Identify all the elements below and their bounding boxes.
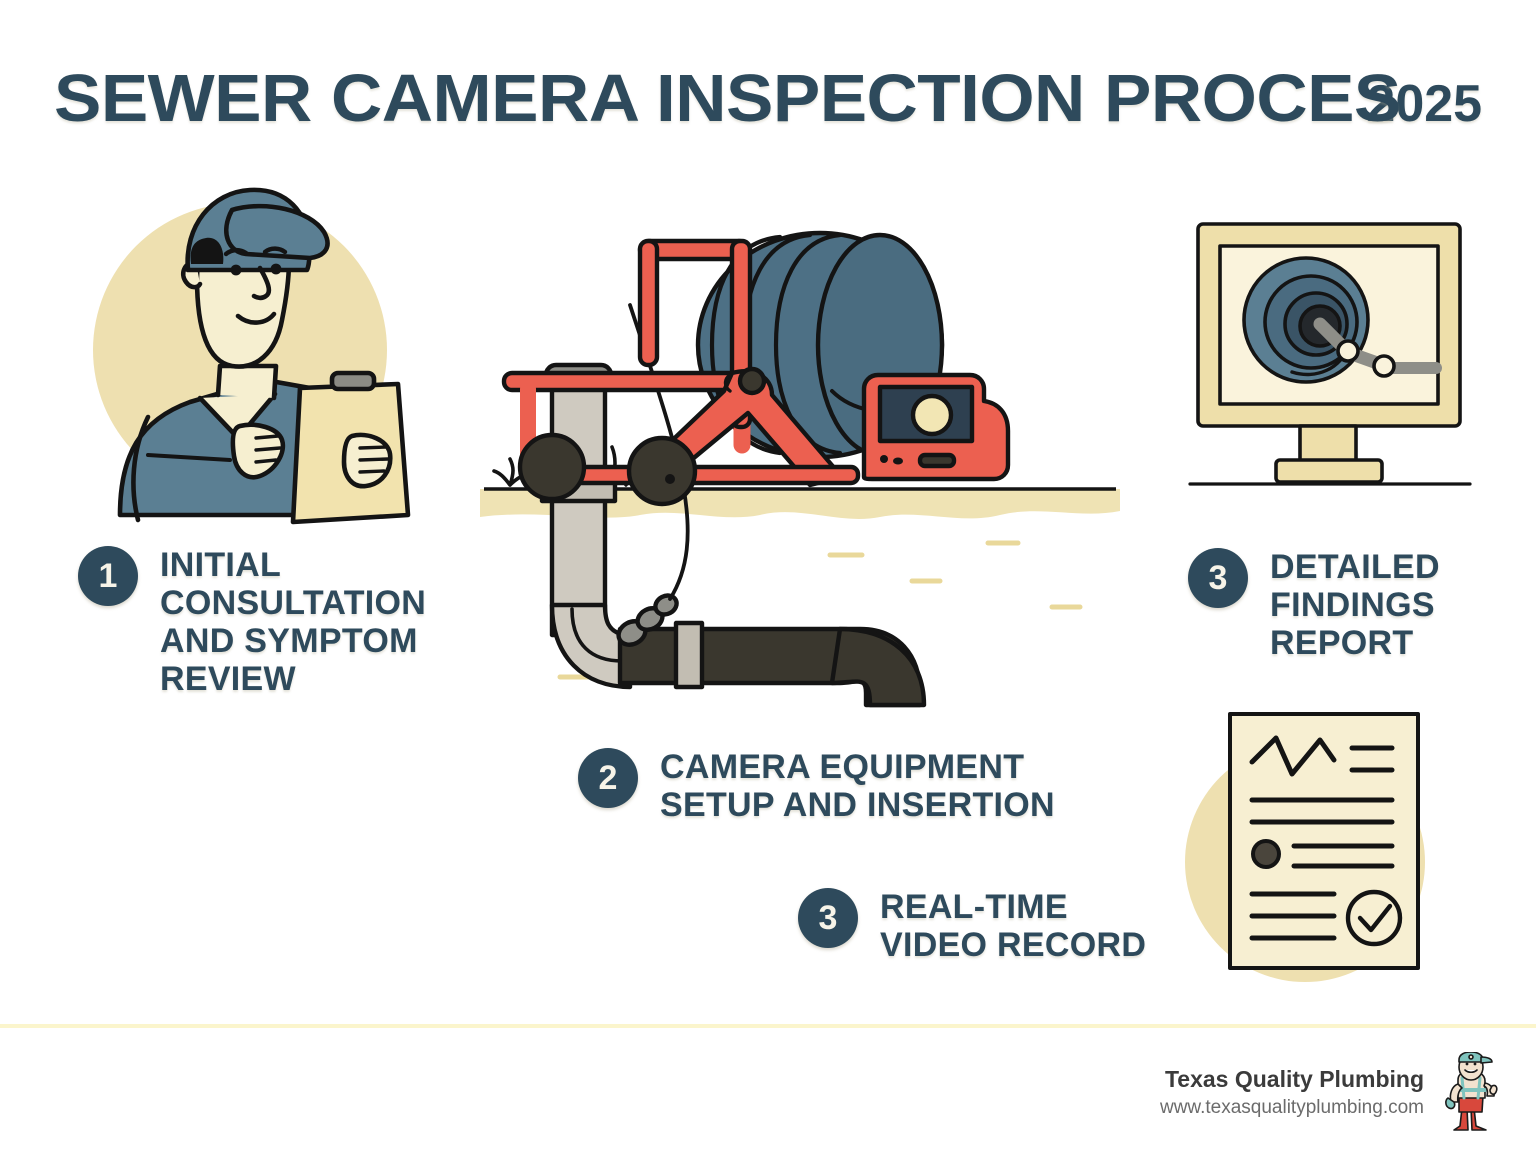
step-4-number-badge: 3 <box>1188 548 1248 608</box>
brand-url[interactable]: www.texasqualityplumbing.com <box>1160 1095 1424 1122</box>
sewer-pipe-collar <box>676 623 702 687</box>
report-bullet-dot <box>1253 841 1279 867</box>
plumber-eye-left <box>231 265 242 276</box>
cart-handle-stem-left <box>640 241 657 365</box>
title-main-text: SEWER CAMERA INSPECTION PROCES <box>54 60 1401 137</box>
step-4[interactable]: 3 DETAILED FINDINGS REPORT <box>1188 548 1536 662</box>
cart-wheel-left <box>520 435 584 499</box>
cleanout-pipe-vertical <box>552 381 605 635</box>
cart-pivot-hub <box>740 369 764 393</box>
brand-name: Texas Quality Plumbing <box>1160 1064 1424 1095</box>
infographic-page: SEWER CAMERA INSPECTION PROCES 2025 <box>0 0 1536 1154</box>
footer: Texas Quality Plumbing www.texasqualityp… <box>1160 1052 1502 1134</box>
findings-report-illustration <box>1180 690 1480 1010</box>
step-1-number-badge: 1 <box>78 546 138 606</box>
monitor-neck <box>1300 426 1356 462</box>
step-2[interactable]: 2 CAMERA EQUIPMENT SETUP AND INSERTION <box>578 748 1130 824</box>
sewer-pipe-curve <box>832 629 924 705</box>
report-page <box>1230 714 1418 968</box>
clipboard-clip <box>332 373 374 389</box>
cart-wheel-right-hub <box>665 474 675 484</box>
plumber-mascot-icon <box>1440 1052 1502 1134</box>
control-unit-led2 <box>893 458 903 465</box>
monitor-base <box>1276 460 1382 482</box>
step-3-label: REAL-TIME VIDEO RECORD <box>880 888 1210 964</box>
step-4-label: DETAILED FINDINGS REPORT <box>1270 548 1536 662</box>
camera-equipment-scene-illustration <box>480 205 1120 715</box>
camera-joint2 <box>1374 356 1394 376</box>
step-1[interactable]: 1 INITIAL CONSULTATION AND SYMPTOM REVIE… <box>78 546 490 698</box>
camera-joint1 <box>1338 341 1358 361</box>
plumber-eye-right <box>271 264 282 275</box>
footer-divider <box>0 1024 1536 1028</box>
cart-cross-bar <box>504 373 754 390</box>
control-unit-lens <box>913 396 951 434</box>
step-2-number-badge: 2 <box>578 748 638 808</box>
step-2-label: CAMERA EQUIPMENT SETUP AND INSERTION <box>660 748 1130 824</box>
step-3[interactable]: 3 REAL-TIME VIDEO RECORD <box>798 888 1210 964</box>
control-unit-button <box>920 455 954 466</box>
plumber-neck <box>218 366 276 398</box>
plumber-with-clipboard-illustration <box>60 170 460 530</box>
step-3-number-badge: 3 <box>798 888 858 948</box>
step-1-label: INITIAL CONSULTATION AND SYMPTOM REVIEW <box>160 546 490 698</box>
monitor-screen-illustration <box>1180 210 1480 500</box>
control-unit-led <box>880 455 888 463</box>
cart-wheel-right <box>629 438 695 504</box>
page-title: SEWER CAMERA INSPECTION PROCES 2025 <box>0 60 1536 137</box>
